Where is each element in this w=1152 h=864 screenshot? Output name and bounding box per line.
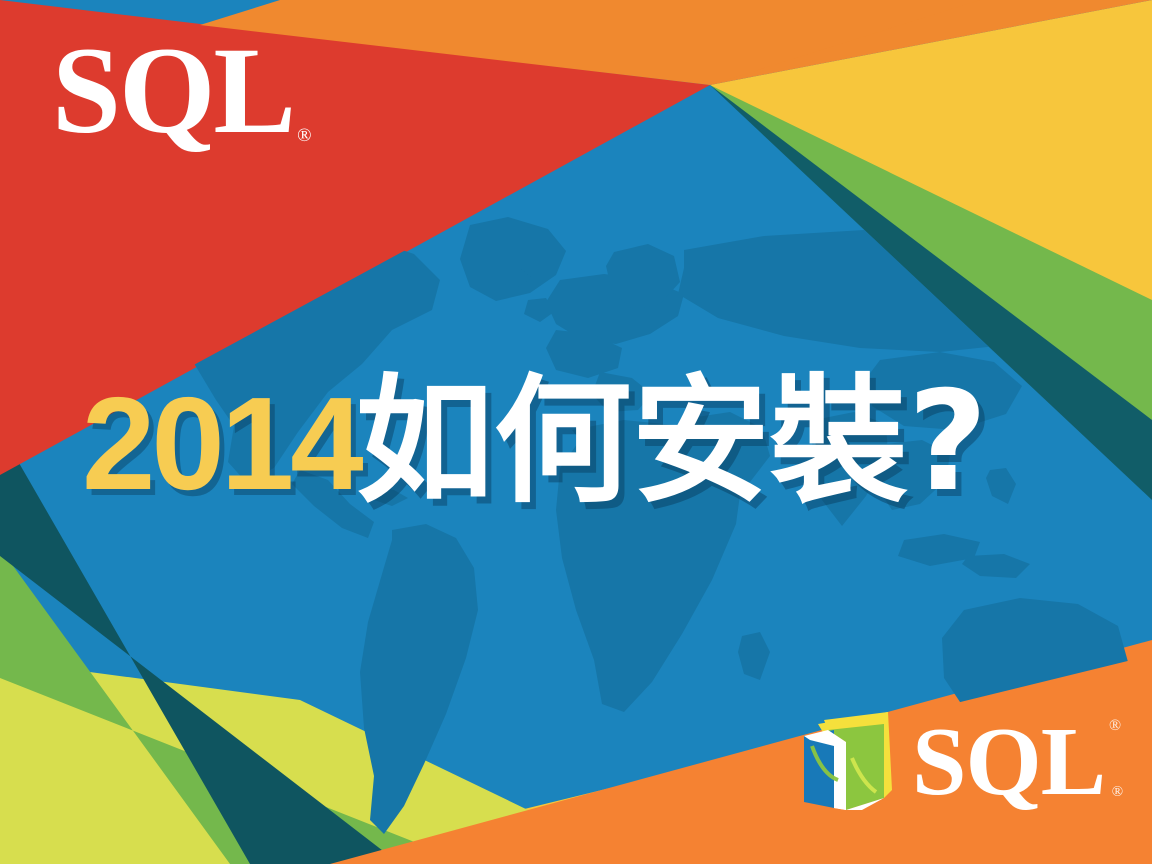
registered-trademark-baseline-icon: ®	[1112, 785, 1123, 800]
title-year-text: 2014	[82, 378, 360, 510]
slide-canvas: SQL ® 2014 如何安裝?	[0, 0, 1152, 864]
registered-trademark-icon: ®	[297, 126, 311, 145]
sql-wordmark-text: SQL	[912, 716, 1105, 808]
sql-logo-bottom-right: SQL ® ®	[788, 706, 1105, 818]
slide-title: 2014 如何安裝?	[82, 373, 988, 511]
sql-wordmark-text: SQL	[52, 34, 294, 148]
sql-cube-logo-icon	[788, 706, 900, 818]
sql-wordmark-lockup: SQL ® ®	[912, 716, 1105, 808]
registered-trademark-superscript-icon: ®	[1109, 718, 1121, 734]
title-question-text: 如何安裝?	[356, 373, 988, 511]
sql-logo-top-left: SQL ®	[52, 34, 312, 148]
